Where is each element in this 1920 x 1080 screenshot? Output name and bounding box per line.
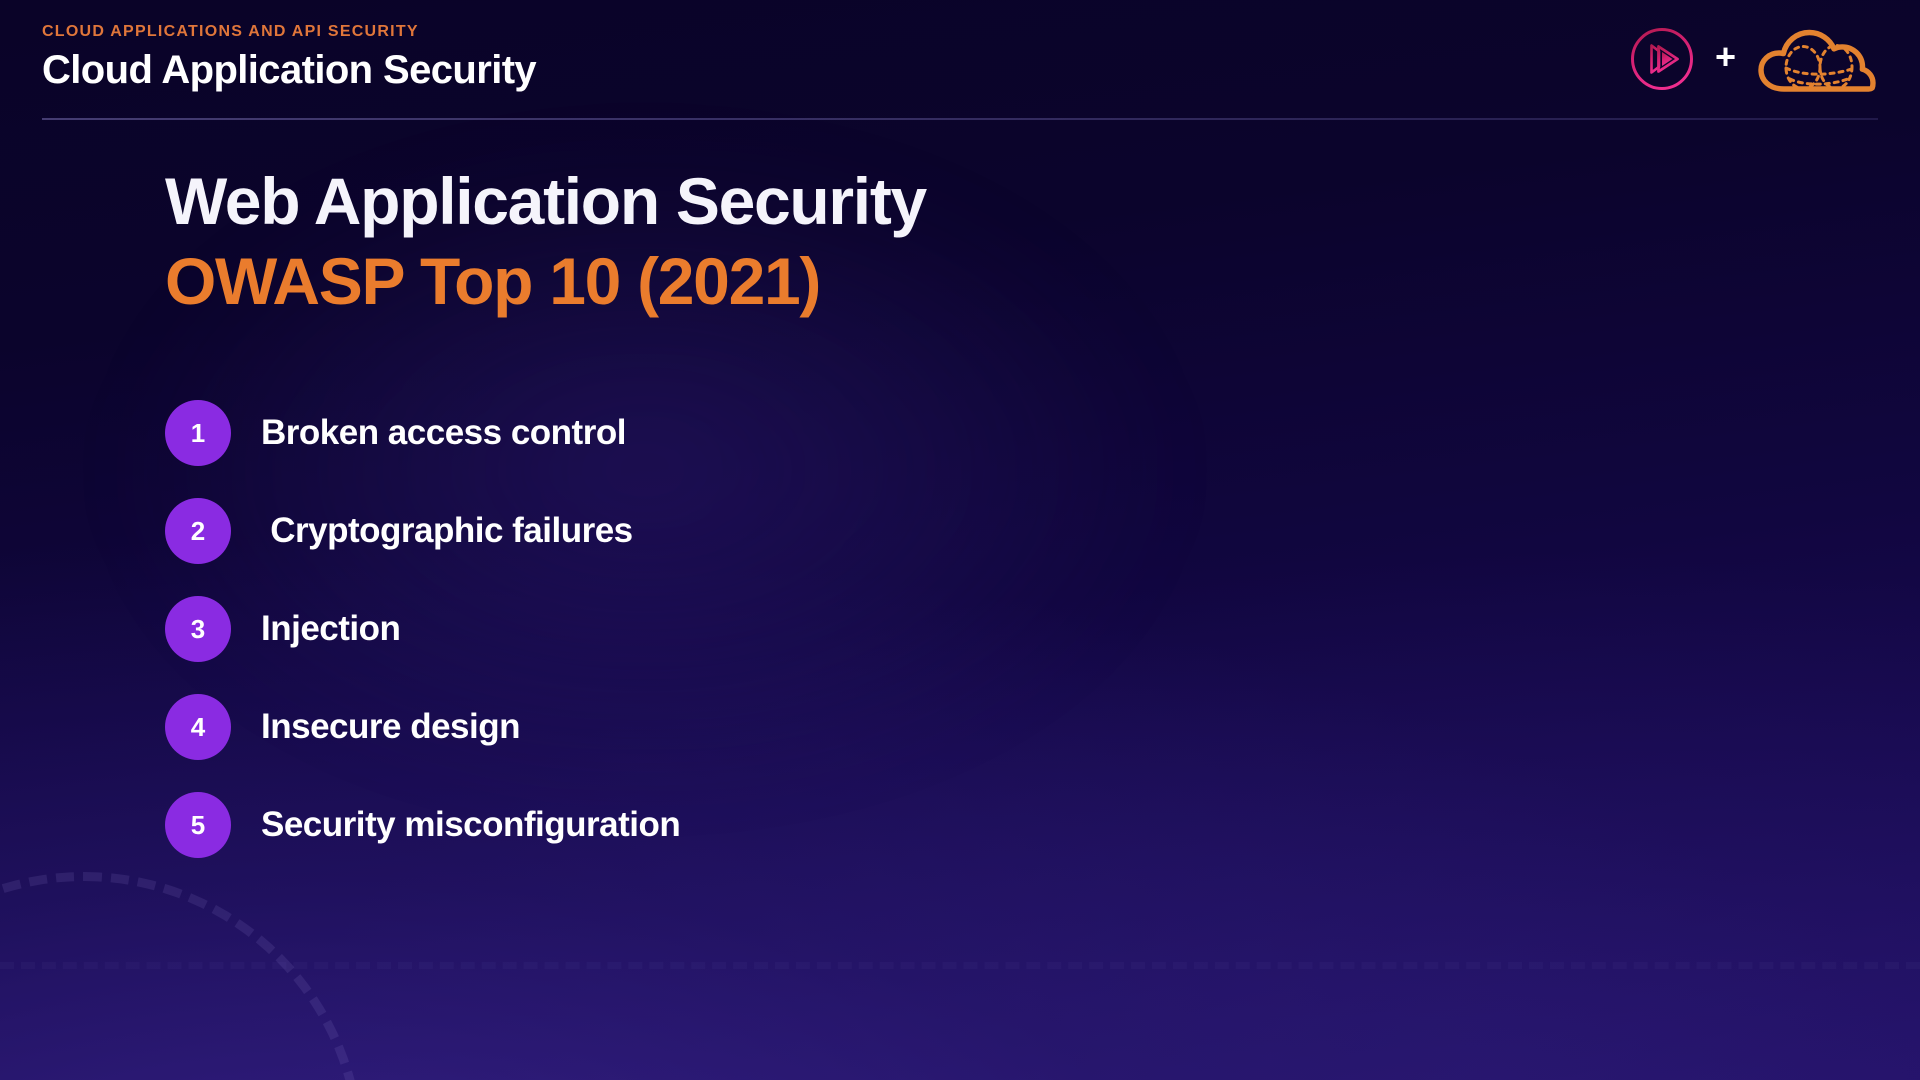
list-item-label: Cryptographic failures [261, 511, 633, 551]
list-item: 5 Security misconfiguration [165, 776, 1265, 874]
owasp-top10-list: 1 Broken access control 2 Cryptographic … [165, 384, 1265, 874]
list-item: 2 Cryptographic failures [165, 482, 1265, 580]
list-item: 1 Broken access control [165, 384, 1265, 482]
dotted-horizontal-line [0, 962, 1920, 969]
list-item-number-badge: 3 [165, 596, 231, 662]
slide-title-block: Web Application Security OWASP Top 10 (2… [165, 167, 926, 317]
course-title: Cloud Application Security [42, 48, 536, 93]
list-item: 3 Injection [165, 580, 1265, 678]
list-item-label: Broken access control [261, 413, 626, 453]
list-item-label: Security misconfiguration [261, 805, 680, 845]
course-eyebrow-label: CLOUD APPLICATIONS AND API SECURITY [42, 23, 536, 41]
list-item-number-badge: 4 [165, 694, 231, 760]
dotted-arc-decoration [0, 872, 364, 1080]
list-item-number-badge: 2 [165, 498, 231, 564]
logo-lockup: + [1629, 17, 1878, 101]
slide-root: CLOUD APPLICATIONS AND API SECURITY Clou… [0, 0, 1920, 1080]
list-item-number-badge: 5 [165, 792, 231, 858]
slide-title-secondary: OWASP Top 10 (2021) [165, 247, 926, 317]
play-circle-logo [1629, 26, 1695, 92]
cloud-outline-logo [1756, 23, 1878, 95]
slide-title-primary: Web Application Security [165, 167, 926, 237]
header-divider [42, 118, 1878, 120]
list-item-label: Injection [261, 609, 400, 649]
list-item-number-badge: 1 [165, 400, 231, 466]
list-item: 4 Insecure design [165, 678, 1265, 776]
slide-header: CLOUD APPLICATIONS AND API SECURITY Clou… [0, 0, 1920, 120]
list-item-label: Insecure design [261, 707, 520, 747]
header-text-block: CLOUD APPLICATIONS AND API SECURITY Clou… [42, 23, 536, 93]
plus-separator-icon: + [1715, 39, 1736, 79]
